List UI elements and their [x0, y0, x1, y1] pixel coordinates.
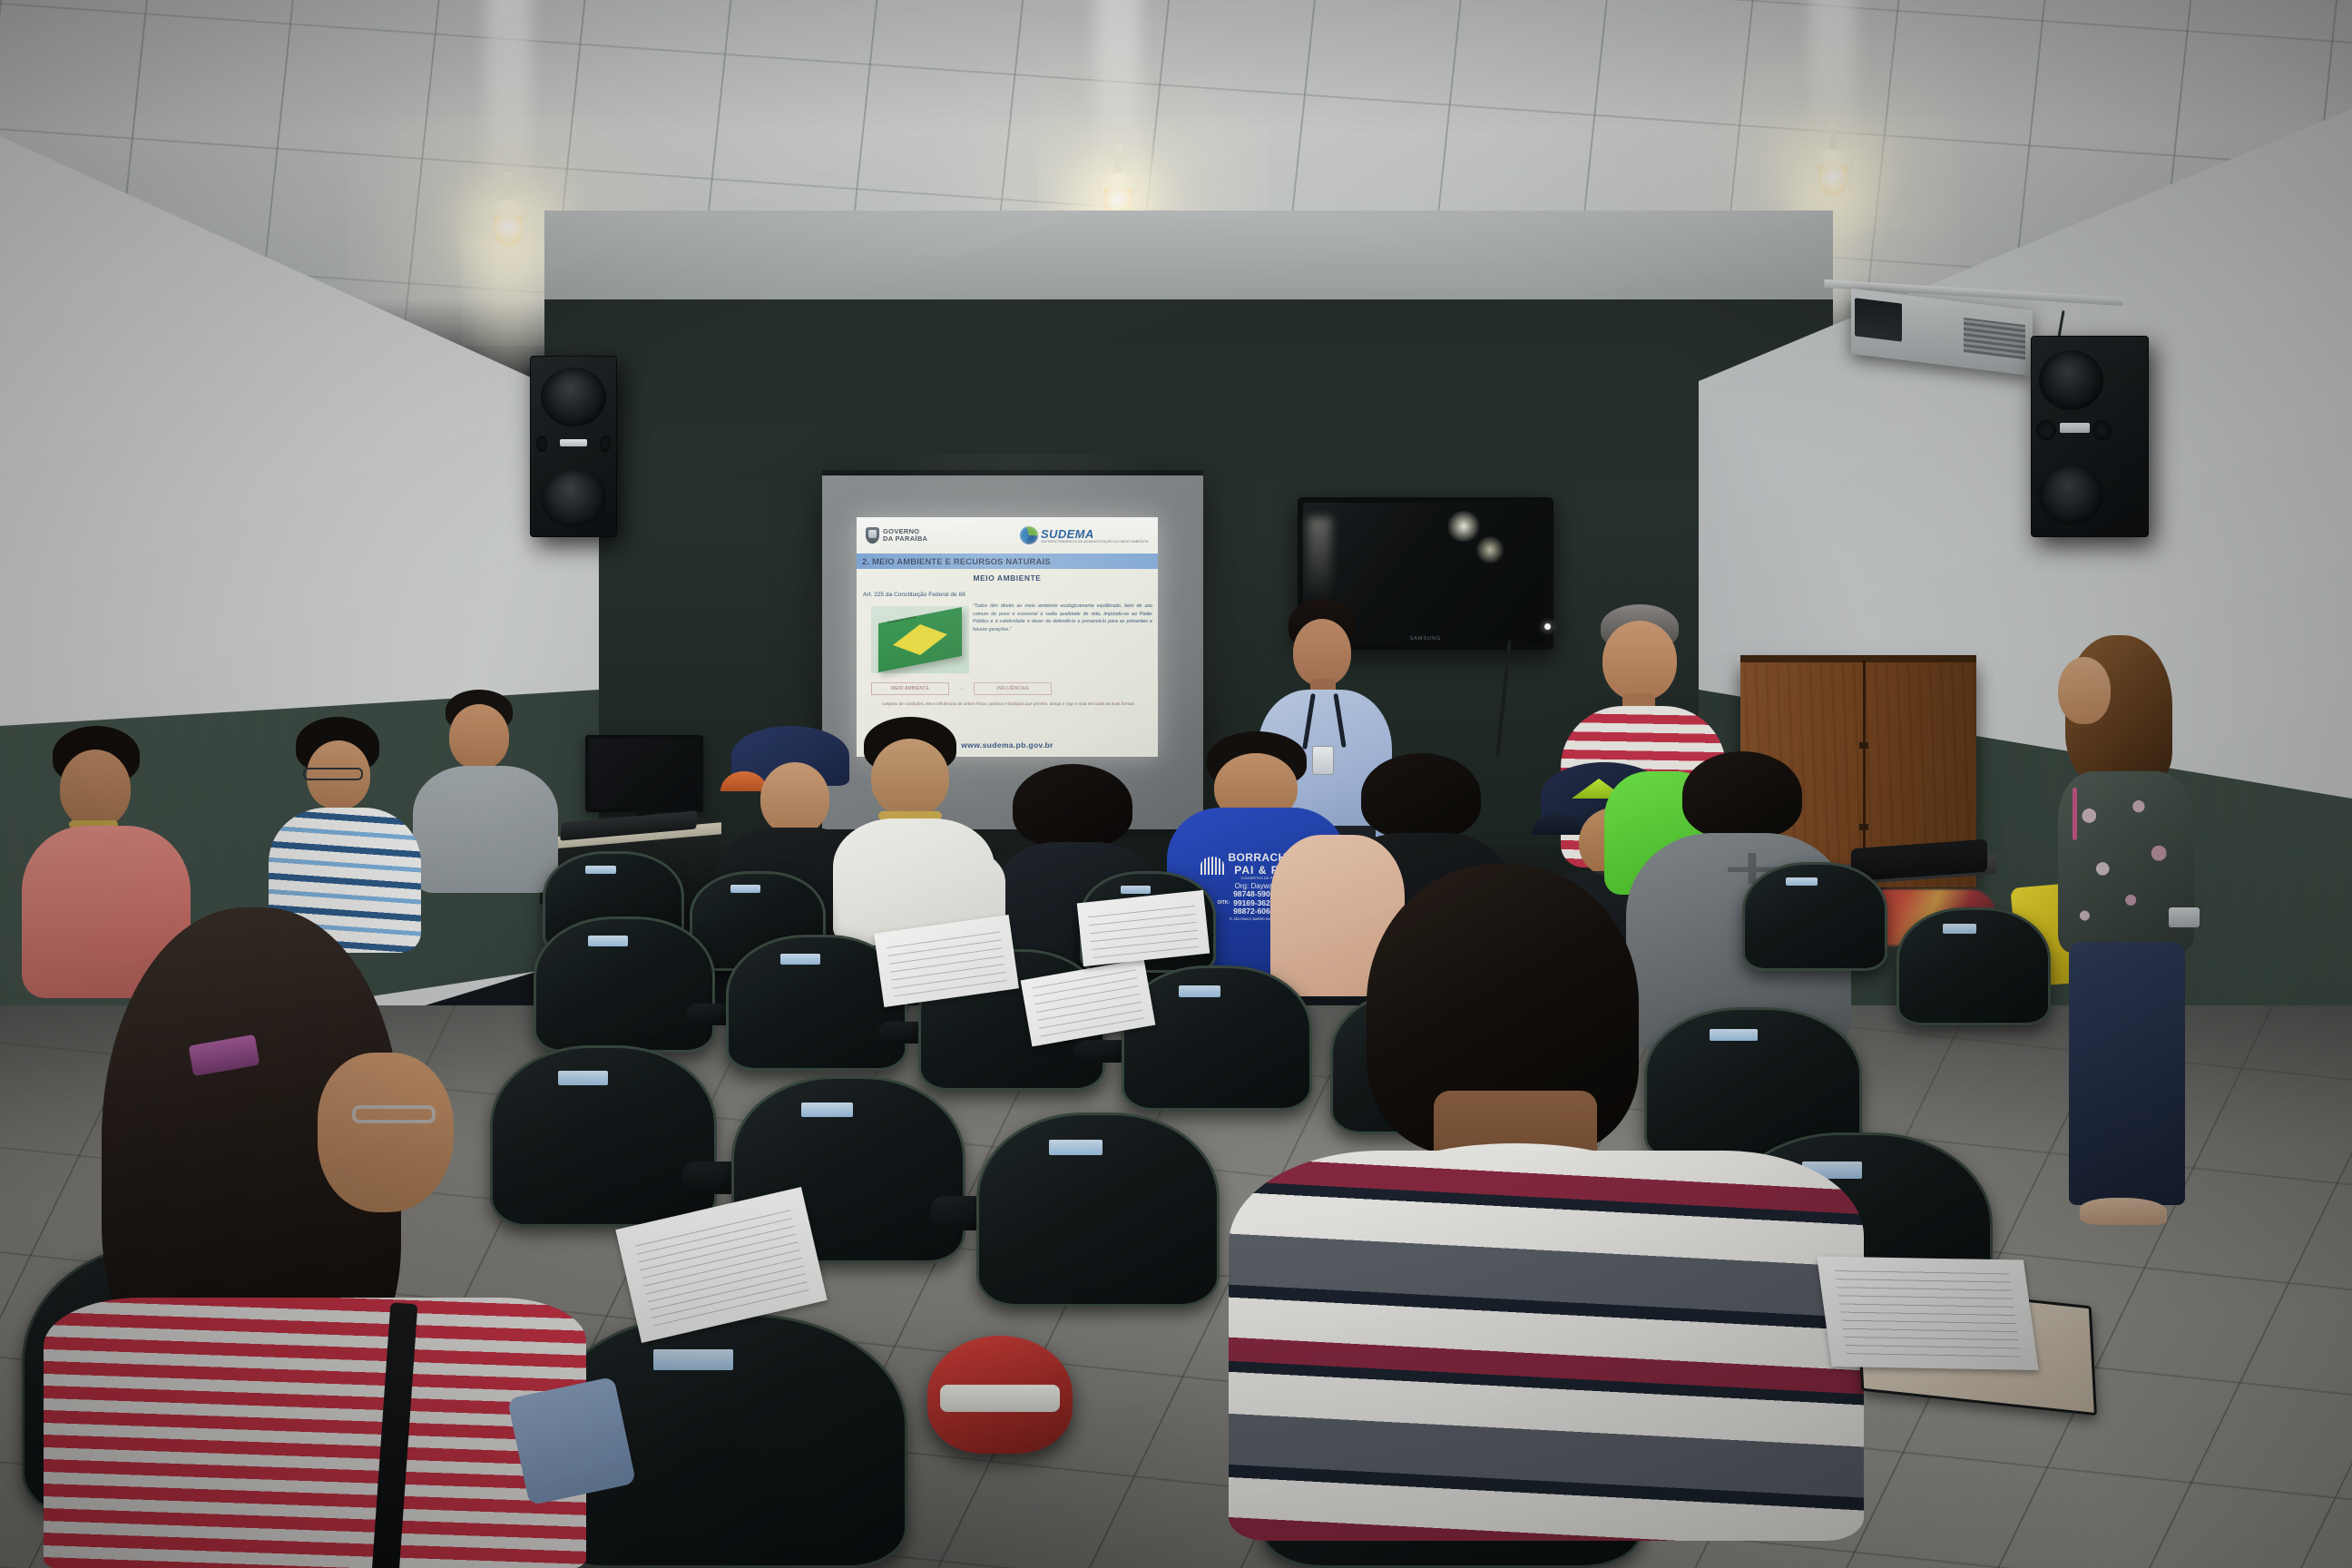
handout-text-lines — [886, 925, 1006, 996]
denim-sleeve — [507, 1377, 636, 1505]
speaker-port-left-icon — [2036, 420, 2056, 440]
attendee-foreground-striped — [1207, 864, 1906, 1568]
speaker-woofer-lower-icon — [2039, 465, 2104, 524]
woman-jeans — [2069, 942, 2185, 1205]
slide-note: conjunto de condições, leis e influência… — [867, 701, 1149, 707]
glasses-icon — [303, 768, 363, 780]
woman-striped-top — [44, 1298, 586, 1568]
gov-logo-text: GOVERNO DA PARAÍBA — [883, 528, 927, 544]
presenter-head — [1293, 619, 1351, 686]
auditorium-chair[interactable] — [976, 1112, 1220, 1307]
conference-room-photo: GOVERNO DA PARAÍBA SUDEMA SUPERINTENDÊNC… — [0, 0, 2352, 1568]
desktop-monitor — [585, 735, 703, 812]
arrow-right-icon: → — [958, 686, 965, 692]
tv-reflection-left — [1308, 517, 1331, 599]
speaker-port-right-icon — [600, 436, 611, 452]
speaker-port-right-icon — [2092, 420, 2112, 440]
tv-power-led-icon — [1544, 623, 1551, 630]
book-cover-icon: Constituição Federal — [878, 607, 962, 672]
attendee-white-shirt-row2 — [853, 735, 1007, 944]
slide-title: MEIO AMBIENTE — [857, 573, 1158, 583]
chair-label — [1049, 1140, 1102, 1155]
handout-text-lines — [1032, 968, 1144, 1037]
motorcycle-helmet[interactable] — [927, 1336, 1073, 1454]
woman-head — [318, 1053, 454, 1212]
staff-woman-standing — [2053, 635, 2216, 1234]
presenter-head — [1602, 621, 1677, 701]
woman-head — [2058, 657, 2111, 724]
attendee-head — [449, 704, 509, 769]
chair-label — [1121, 886, 1151, 894]
speaker-woofer-lower-icon — [541, 468, 605, 527]
chair-label — [585, 866, 616, 874]
handout-text-lines — [1835, 1269, 2020, 1357]
auditorium-chair[interactable] — [1896, 907, 2051, 1025]
foreground-striped-polo — [1229, 1151, 1864, 1541]
back-wall-upper — [544, 211, 1833, 305]
chair-label — [653, 1349, 733, 1369]
governo-paraiba-logo: GOVERNO DA PARAÍBA — [866, 527, 927, 544]
slide-diagram: MEIO AMBIENTE → INFLUÊNCIAS — [871, 682, 1143, 695]
slide-book-image: Constituição Federal — [871, 606, 969, 673]
speaker-badge — [2060, 423, 2090, 433]
cabinet-top-edge — [1740, 655, 1976, 662]
attendee-hair — [1361, 753, 1481, 838]
speaker-woofer-upper-icon — [541, 367, 605, 426]
cabinet-hinge-lower-icon — [1859, 824, 1868, 830]
book-caption: Constituição Federal — [887, 615, 916, 624]
mobile-phone[interactable] — [2169, 907, 2200, 927]
handout-text-lines — [1088, 898, 1200, 957]
chair-label — [801, 1102, 853, 1117]
cabinet-hinge-upper-icon — [1859, 742, 1868, 749]
tv-brand-label: SAMSUNG — [1410, 636, 1442, 642]
slide-article-reference: Art. 225 da Constituição Federal de 88 — [863, 592, 965, 598]
glasses-icon — [352, 1105, 436, 1123]
attendee-grey-shirt-back — [413, 690, 558, 889]
sudema-logo: SUDEMA SUPERINTENDÊNCIA DE ADMINISTRAÇÃO… — [1020, 526, 1149, 544]
wall-speaker-right — [2031, 336, 2149, 537]
attendee-head — [760, 762, 829, 835]
sudema-wordmark: SUDEMA — [1041, 528, 1149, 540]
ac-vent-grille-icon — [1964, 318, 2025, 359]
attendee-hair — [1682, 751, 1802, 838]
tv-reflection-a — [1445, 511, 1482, 542]
attendee-shirt — [413, 766, 558, 893]
chair-label — [730, 885, 760, 893]
helmet-visor-strip — [940, 1385, 1060, 1412]
coat-of-arms-icon — [866, 527, 879, 544]
book-diamond-icon — [893, 619, 947, 661]
chair-label — [780, 954, 820, 965]
speaker-woofer-upper-icon — [2039, 350, 2104, 410]
speaker-port-left-icon — [536, 436, 547, 452]
chair-label — [1943, 924, 1976, 933]
floral-pattern — [2069, 788, 2181, 944]
woman-shoes — [2080, 1198, 2167, 1225]
printed-handout[interactable] — [1817, 1256, 2038, 1370]
printed-handout[interactable] — [1077, 890, 1210, 966]
slide-quote: "Todos têm direito ao meio ambiente ecol… — [973, 603, 1152, 633]
attendee-striped-red-woman — [9, 907, 608, 1568]
slide-header: GOVERNO DA PARAÍBA SUDEMA SUPERINTENDÊNC… — [857, 517, 1158, 554]
slide-section-header: 2. MEIO AMBIENTE E RECURSOS NATURAIS — [857, 554, 1158, 569]
ac-inlet — [1855, 298, 1902, 341]
wall-speaker-left — [530, 356, 617, 537]
sudema-tagline: SUPERINTENDÊNCIA DE ADMINISTRAÇÃO DO MEI… — [1041, 540, 1149, 544]
attendee-head — [60, 750, 131, 828]
gov-line-2: DA PARAÍBA — [883, 535, 927, 544]
sudema-mark-icon — [1020, 526, 1038, 544]
woman-lanyard — [2073, 788, 2077, 840]
handout-text-lines — [633, 1204, 809, 1326]
slide-box-left: MEIO AMBIENTE — [871, 682, 949, 695]
speaker-badge — [560, 439, 587, 446]
slide-box-right: INFLUÊNCIAS — [974, 682, 1052, 695]
attendee-hair — [1013, 764, 1132, 848]
